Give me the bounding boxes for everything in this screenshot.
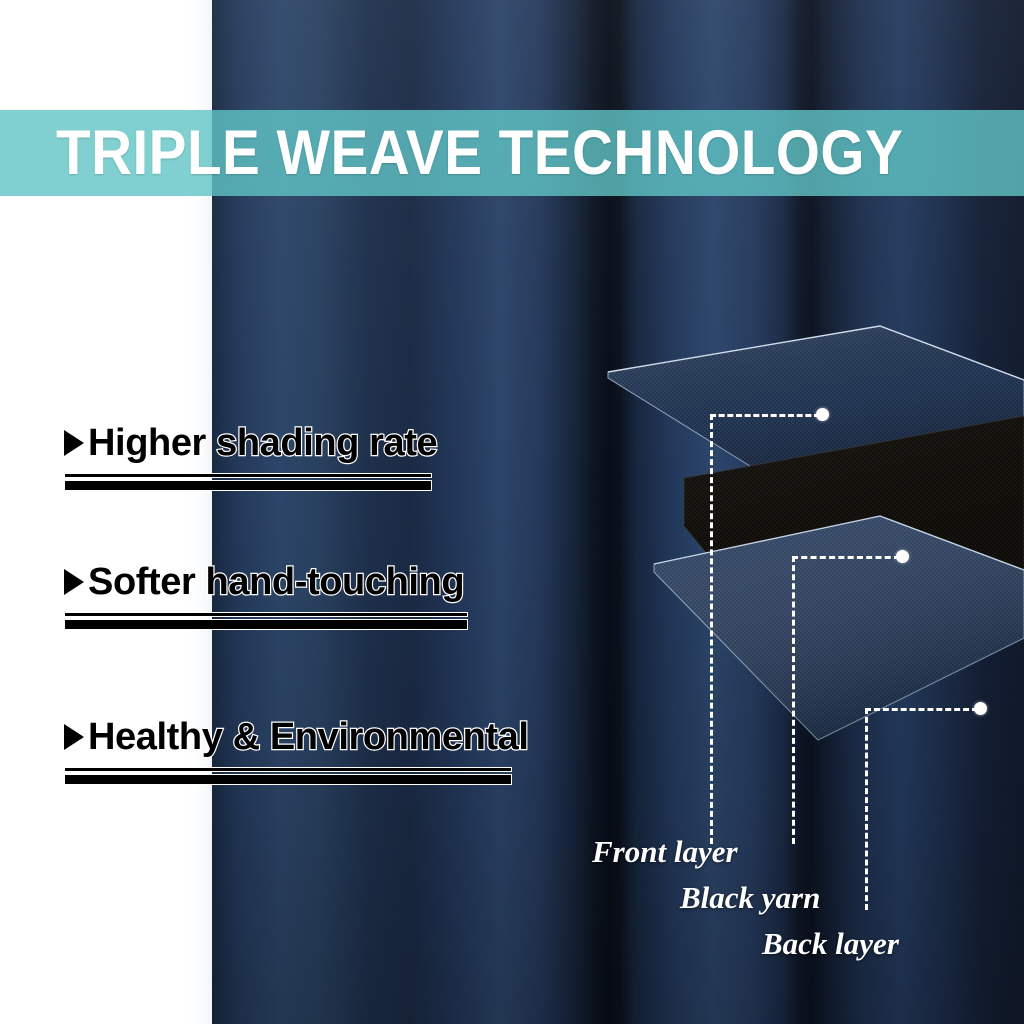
triangle-right-icon	[64, 724, 84, 750]
feature-underline	[64, 767, 512, 785]
triangle-right-icon	[64, 569, 84, 595]
callout-label-back-layer: Back layer	[762, 928, 899, 959]
leader-line-back-horizontal	[865, 708, 978, 711]
leader-line-front-vertical	[710, 414, 713, 844]
leader-line-yarn-vertical	[792, 556, 795, 844]
underline-bar	[64, 619, 468, 630]
feature-underline	[64, 612, 468, 630]
product-feature-image: TRIPLE WEAVE TECHNOLOGY Higher shading r…	[0, 0, 1024, 1024]
leader-line-back-vertical	[865, 708, 868, 910]
underline-bar	[64, 480, 432, 491]
feature-item-2: Softer hand-touching	[64, 563, 494, 630]
triple-weave-layer-diagram	[580, 320, 1024, 860]
leader-line-front-horizontal	[710, 414, 820, 417]
callout-dot-yarn	[896, 550, 909, 563]
underline-hairline	[64, 612, 468, 617]
leader-line-yarn-horizontal	[792, 556, 900, 559]
underline-hairline	[64, 473, 432, 478]
callout-dot-back	[974, 702, 987, 715]
feature-underline	[64, 473, 432, 491]
feature-item-3: Healthy & Environmental	[64, 718, 539, 785]
callout-label-black-yarn: Black yarn	[680, 882, 820, 913]
feature-list: Higher shading rate Softer hand-touching…	[0, 0, 600, 1024]
feature-item-1: Higher shading rate	[64, 424, 464, 491]
feature-label: Higher shading rate	[88, 424, 437, 462]
underline-hairline	[64, 767, 512, 772]
feature-label: Healthy & Environmental	[88, 718, 529, 756]
triangle-right-icon	[64, 430, 84, 456]
callout-dot-front	[816, 408, 829, 421]
feature-label: Softer hand-touching	[88, 563, 464, 601]
underline-bar	[64, 774, 512, 785]
callout-label-front-layer: Front layer	[592, 836, 738, 867]
layer-stack-illustration	[580, 320, 1024, 880]
